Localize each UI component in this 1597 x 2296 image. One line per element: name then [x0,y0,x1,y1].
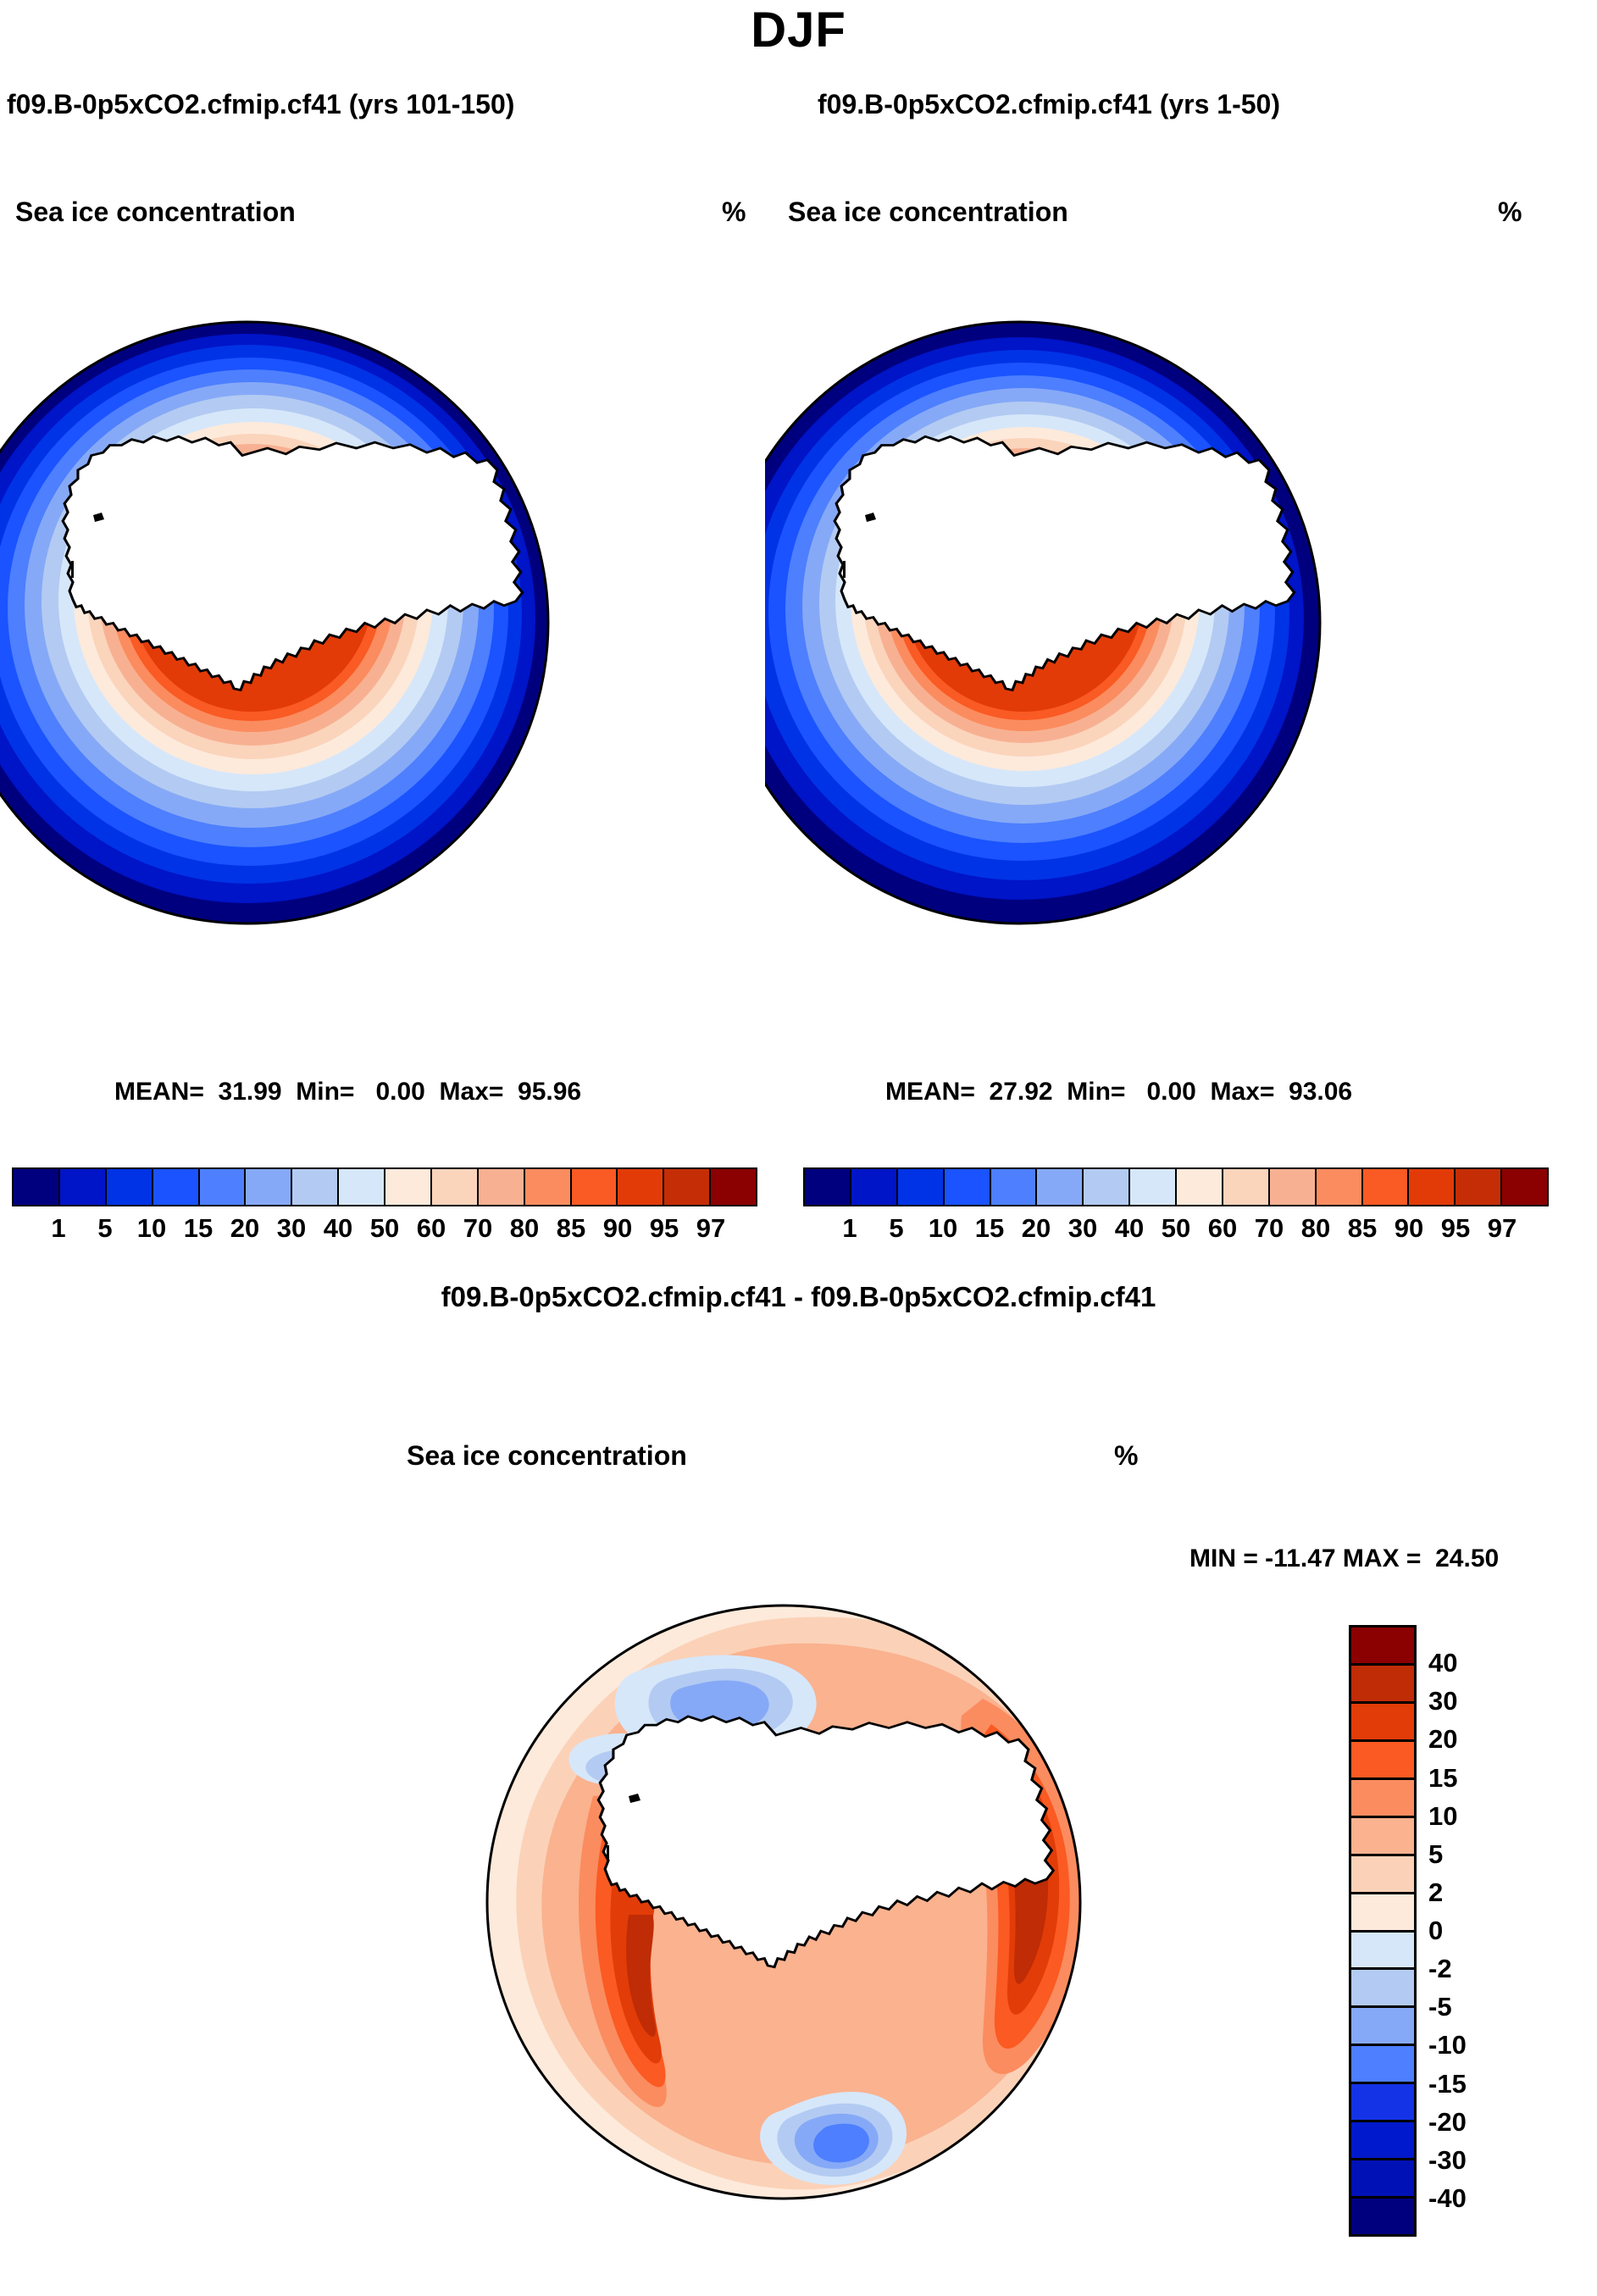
panel-unit-left: % [722,197,746,228]
colorbar-cell [107,1169,153,1205]
colorbar-tick-label: -2 [1428,1954,1522,1984]
colorbar-cell [1351,1894,1414,1933]
colorbar-cell [1130,1169,1177,1205]
case-title-left: f09.B-0p5xCO2.cfmip.cf41 (yrs 101-150) [7,89,514,120]
colorbar-cell [1351,1628,1414,1666]
colorbar-tick-label: 30 [1068,1213,1097,1244]
colorbar-cell [851,1169,898,1205]
colorbar-tick-label: 90 [603,1213,632,1244]
colorbar-tick-label: 10 [1428,1801,1522,1832]
colorbar-cell [60,1169,107,1205]
difference-panel-label: Sea ice concentration [407,1440,687,1472]
colorbar-tick-label: -10 [1428,2030,1522,2060]
colorbar-tick-label: 90 [1395,1213,1423,1244]
colorbar-cell [246,1169,292,1205]
colorbar-difference [1349,1625,1417,2237]
colorbar-tick-label: 5 [1428,1839,1522,1870]
colorbar-cell [1351,1704,1414,1742]
colorbar-cell [1317,1169,1363,1205]
colorbar-tick-label: 50 [370,1213,399,1244]
colorbar-cell [14,1169,60,1205]
stats-left: MEAN= 31.99 Min= 0.00 Max= 95.96 [114,1078,581,1106]
colorbar-difference-ticks: 4030201510520-2-5-10-15-20-30-40 [1428,1625,1539,2237]
colorbar-tick-label: 2 [1428,1877,1522,1908]
colorbar-tick-label: 70 [463,1213,492,1244]
colorbar-cell [1351,1742,1414,1780]
colorbar-cell [618,1169,664,1205]
colorbar-tick-label: -40 [1428,2183,1522,2214]
colorbar-tick-label: 50 [1162,1213,1190,1244]
colorbar-tick-label: 40 [1115,1213,1144,1244]
colorbar-cell [572,1169,618,1205]
colorbar-cell [991,1169,1038,1205]
difference-panel-unit: % [1114,1440,1138,1472]
colorbar-tick-label: 30 [277,1213,306,1244]
colorbar-tick-label: 40 [324,1213,352,1244]
panel-label-left: Sea ice concentration [15,197,296,228]
colorbar-tick-label: -20 [1428,2107,1522,2138]
colorbar-cell [1351,1666,1414,1704]
colorbar-cell [1351,2160,1414,2199]
colorbar-cell [1351,1856,1414,1894]
colorbar-tick-label: 80 [1301,1213,1330,1244]
colorbar-cell [1223,1169,1270,1205]
colorbar-cell [1409,1169,1456,1205]
contour-fill-right [765,322,1320,923]
panel-unit-right: % [1498,197,1522,228]
case-title-right: f09.B-0p5xCO2.cfmip.cf41 (yrs 1-50) [818,89,1280,120]
colorbar-cell [1351,1933,1414,1971]
colorbar-cell [1351,2122,1414,2160]
colorbar-cell [1037,1169,1084,1205]
colorbar-tick-label: 97 [1488,1213,1517,1244]
colorbar-cell [1351,2008,1414,2046]
stats-right: MEAN= 27.92 Min= 0.00 Max= 93.06 [885,1078,1352,1106]
colorbar-tick-label: 5 [889,1213,903,1244]
colorbar-tick-label: 10 [929,1213,957,1244]
colorbar-ticks-right: 1510152030405060708085909597 [803,1213,1549,1247]
colorbar-tick-label: 1 [842,1213,857,1244]
contour-fill-difference [487,1606,1105,2228]
colorbar-tick-label: 95 [1441,1213,1470,1244]
colorbar-cell [200,1169,247,1205]
colorbar-tick-label: 15 [975,1213,1004,1244]
colorbar-cell [432,1169,479,1205]
colorbar-cell [945,1169,991,1205]
colorbar-tick-label: 10 [137,1213,166,1244]
colorbar-right [803,1167,1549,1206]
colorbar-cell [898,1169,945,1205]
colorbar-cell [1177,1169,1223,1205]
contour-fill-left [0,322,548,923]
colorbar-tick-label: 30 [1428,1686,1522,1716]
colorbar-cell [1351,1818,1414,1856]
colorbar-tick-label: 97 [696,1213,725,1244]
colorbar-tick-label: 60 [1208,1213,1237,1244]
colorbar-cell [664,1169,711,1205]
colorbar-cell [1351,2046,1414,2084]
colorbar-tick-label: 0 [1428,1916,1522,1946]
colorbar-cell [153,1169,200,1205]
colorbar-tick-label: 85 [1348,1213,1377,1244]
difference-title: f09.B-0p5xCO2.cfmip.cf41 - f09.B-0p5xCO2… [0,1281,1597,1313]
colorbar-cell [1351,1780,1414,1818]
colorbar-tick-label: -15 [1428,2069,1522,2099]
colorbar-cell [1456,1169,1502,1205]
colorbar-cell [1351,2199,1414,2234]
colorbar-cell [1084,1169,1130,1205]
colorbar-tick-label: 80 [510,1213,539,1244]
colorbar-cell [1502,1169,1547,1205]
colorbar-tick-label: 70 [1255,1213,1284,1244]
colorbar-ticks-left: 1510152030405060708085909597 [12,1213,757,1247]
colorbar-cell [479,1169,525,1205]
colorbar-cell [339,1169,385,1205]
colorbar-cell [292,1169,339,1205]
colorbar-cell [805,1169,851,1205]
polar-map-difference [398,1517,1178,2296]
colorbar-tick-label: -5 [1428,1992,1522,2022]
colorbar-cell [1270,1169,1317,1205]
colorbar-left [12,1167,757,1206]
polar-map-left [0,263,773,1042]
colorbar-tick-label: 20 [1022,1213,1051,1244]
difference-minmax: MIN = -11.47 MAX = 24.50 [1189,1545,1499,1573]
colorbar-cell [385,1169,432,1205]
colorbar-cell [525,1169,572,1205]
panel-label-right: Sea ice concentration [788,197,1068,228]
colorbar-tick-label: 95 [650,1213,679,1244]
colorbar-tick-label: 15 [184,1213,213,1244]
colorbar-tick-label: 85 [557,1213,585,1244]
colorbar-tick-label: 20 [1428,1724,1522,1755]
colorbar-tick-label: 15 [1428,1763,1522,1794]
colorbar-tick-label: -30 [1428,2145,1522,2176]
season-title: DJF [0,2,1597,58]
colorbar-tick-label: 20 [230,1213,259,1244]
polar-map-right [765,263,1544,1042]
colorbar-tick-label: 40 [1428,1648,1522,1678]
colorbar-cell [711,1169,756,1205]
colorbar-tick-label: 1 [51,1213,65,1244]
colorbar-cell [1351,1970,1414,2008]
colorbar-cell [1351,2084,1414,2122]
colorbar-tick-label: 5 [97,1213,112,1244]
colorbar-cell [1363,1169,1410,1205]
colorbar-tick-label: 60 [417,1213,446,1244]
